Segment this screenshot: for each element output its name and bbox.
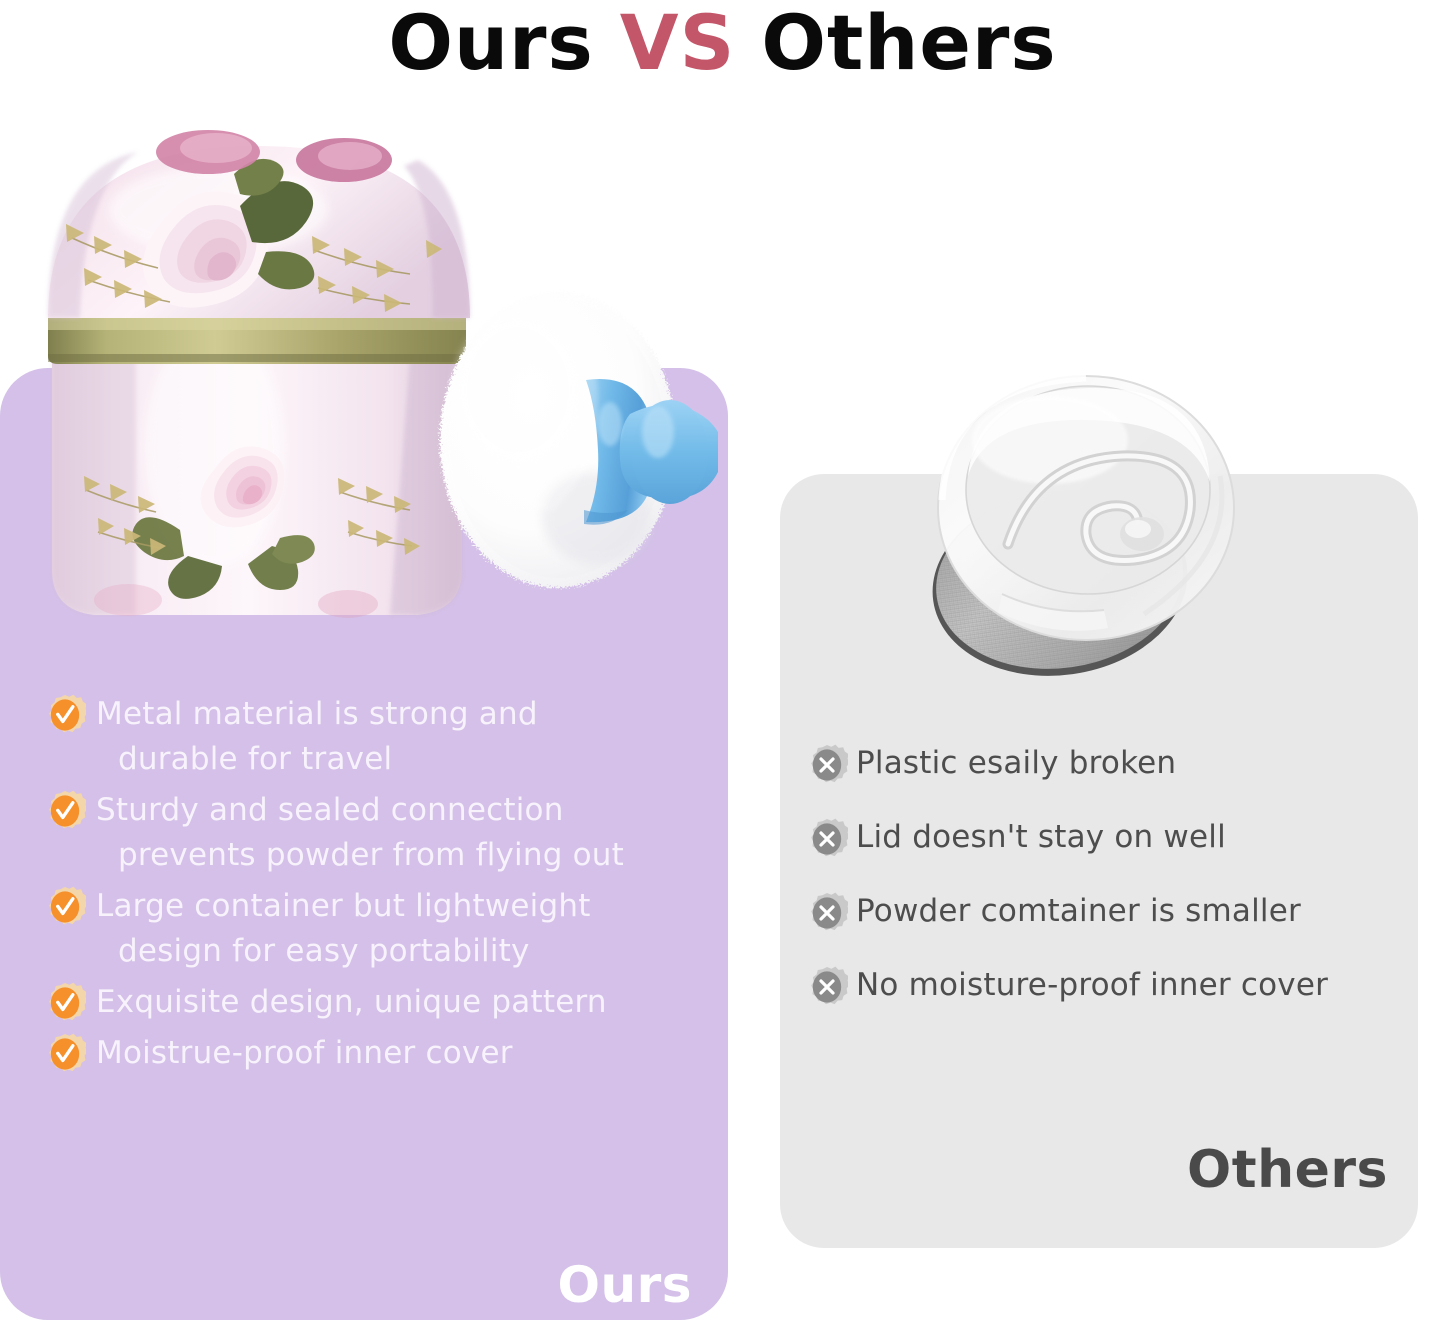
ours-feature-list: Metal material is strong and durable for… — [44, 692, 704, 1082]
title-others: Others — [761, 0, 1056, 87]
list-item: Large container but lightweight design f… — [44, 884, 704, 974]
list-item-label: Lid doesn't stay on well — [856, 819, 1226, 856]
cross-badge-icon — [806, 818, 848, 860]
list-item: Moistrue-proof inner cover — [44, 1031, 704, 1076]
title-ours: Ours — [388, 0, 593, 87]
check-badge-icon — [44, 1033, 86, 1075]
ours-product-image — [18, 118, 718, 638]
list-item: Sturdy and sealed connection prevents po… — [44, 788, 704, 878]
check-badge-icon — [44, 886, 86, 928]
list-item-label: Moistrue-proof inner cover — [96, 1031, 513, 1076]
check-badge-icon — [44, 694, 86, 736]
title-vs: VS — [620, 0, 736, 87]
ours-label: Ours — [0, 1256, 692, 1314]
list-item-label: Metal material is strong and durable for… — [96, 692, 538, 782]
page-title: OursVSOthers — [0, 0, 1445, 87]
cross-badge-icon — [806, 744, 848, 786]
list-item-label: No moisture-proof inner cover — [856, 967, 1328, 1004]
check-badge-icon — [44, 982, 86, 1024]
others-product-image — [890, 348, 1290, 688]
list-item: Powder comtainer is smaller — [806, 890, 1406, 934]
others-drawback-list: Plastic esaily broken Lid doesn't stay o… — [806, 742, 1406, 1038]
list-item: Plastic esaily broken — [806, 742, 1406, 786]
list-item-label: Powder comtainer is smaller — [856, 893, 1301, 930]
list-item-label: Large container but lightweight design f… — [96, 884, 591, 974]
others-label: Others — [780, 1140, 1388, 1200]
cross-badge-icon — [806, 892, 848, 934]
comparison-infographic: OursVSOthers — [0, 0, 1445, 1335]
list-item: Metal material is strong and durable for… — [44, 692, 704, 782]
list-item: No moisture-proof inner cover — [806, 964, 1406, 1008]
cross-badge-icon — [806, 966, 848, 1008]
list-item-label: Plastic esaily broken — [856, 745, 1176, 782]
check-badge-icon — [44, 790, 86, 832]
list-item-label: Sturdy and sealed connection prevents po… — [96, 788, 624, 878]
list-item-label: Exquisite design, unique pattern — [96, 980, 607, 1025]
list-item: Lid doesn't stay on well — [806, 816, 1406, 860]
list-item: Exquisite design, unique pattern — [44, 980, 704, 1025]
